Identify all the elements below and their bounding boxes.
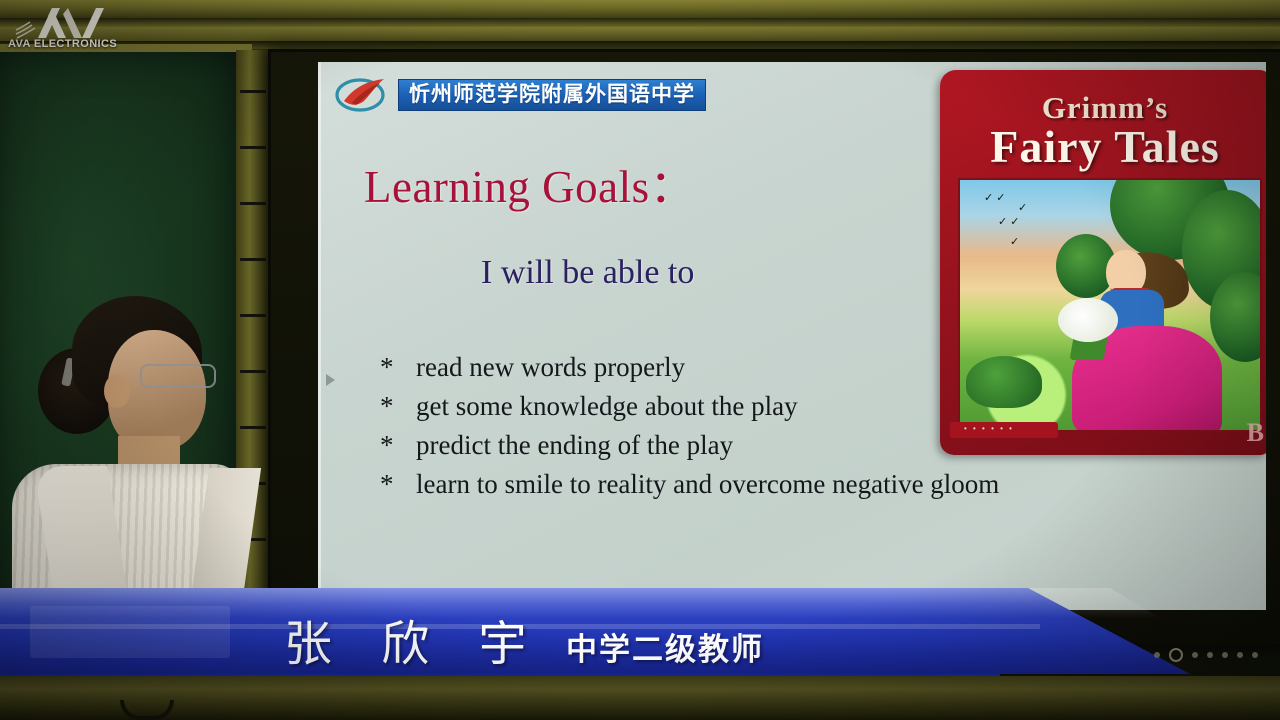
publisher-badge: • • • • • •	[950, 422, 1058, 438]
list-item: * learn to smile to reality and overcome…	[380, 469, 1240, 508]
presentation-slide[interactable]: 忻州师范学院附属外国语中学 Learning Goals： I will be …	[318, 62, 1266, 610]
goal-text: get some knowledge about the play	[416, 391, 798, 422]
publisher-badge-text: • • • • • •	[964, 424, 1014, 433]
bullet-star-icon: *	[380, 391, 396, 421]
ceiling-rail-shadow	[0, 18, 1280, 27]
page-title: Learning Goals：	[364, 150, 695, 215]
ceiling-rail-lower	[0, 27, 1280, 41]
desk-surface	[0, 676, 1280, 720]
goal-text: learn to smile to reality and overcome n…	[416, 469, 999, 500]
teacher-role: 中学二级教师	[566, 624, 764, 669]
book-title-line2: Fairy Tales	[940, 120, 1266, 173]
goal-text: predict the ending of the play	[416, 430, 733, 461]
control-dot[interactable]	[1237, 652, 1243, 658]
ceiling-rail-upper	[0, 0, 1280, 18]
bullet-star-icon: *	[380, 352, 396, 382]
bullet-star-icon: *	[380, 430, 396, 460]
goal-text: read new words properly	[416, 352, 685, 383]
book-spine-letter: B	[1247, 418, 1264, 448]
school-crest-icon	[334, 75, 390, 115]
teacher-name: 张 欣 宇	[284, 604, 544, 674]
control-dot[interactable]	[1252, 652, 1258, 658]
school-name-banner: 忻州师范学院附属外国语中学	[398, 79, 706, 112]
display-control-buttons[interactable]	[1154, 648, 1258, 662]
bullet-star-icon: *	[380, 469, 396, 499]
art-bush	[966, 356, 1042, 408]
banner-sheen	[0, 588, 1190, 618]
slide-subtitle: I will be able to	[481, 254, 694, 292]
control-dot[interactable]	[1222, 652, 1228, 658]
book-cover-image: Grimm’s Fairy Tales ✓ ✓ ✓ ✓ ✓ ✓	[940, 70, 1266, 455]
ear	[104, 374, 130, 408]
glasses-icon	[140, 364, 216, 388]
control-dot[interactable]	[1207, 652, 1213, 658]
teacher-figure	[12, 296, 262, 626]
control-dot-power[interactable]	[1169, 648, 1183, 662]
slide-header: 忻州师范学院附属外国语中学	[334, 75, 706, 115]
control-dot[interactable]	[1154, 652, 1160, 658]
slide-advance-triangle-icon[interactable]	[326, 374, 335, 386]
control-dot[interactable]	[1192, 652, 1198, 658]
classroom-video-frame: 忻州师范学院附属外国语中学 Learning Goals： I will be …	[0, 0, 1280, 720]
book-illustration: ✓ ✓ ✓ ✓ ✓ ✓	[958, 178, 1262, 432]
watermark-brand: AVA ELECTRONICS	[8, 38, 117, 50]
slide-left-edge	[318, 62, 321, 610]
